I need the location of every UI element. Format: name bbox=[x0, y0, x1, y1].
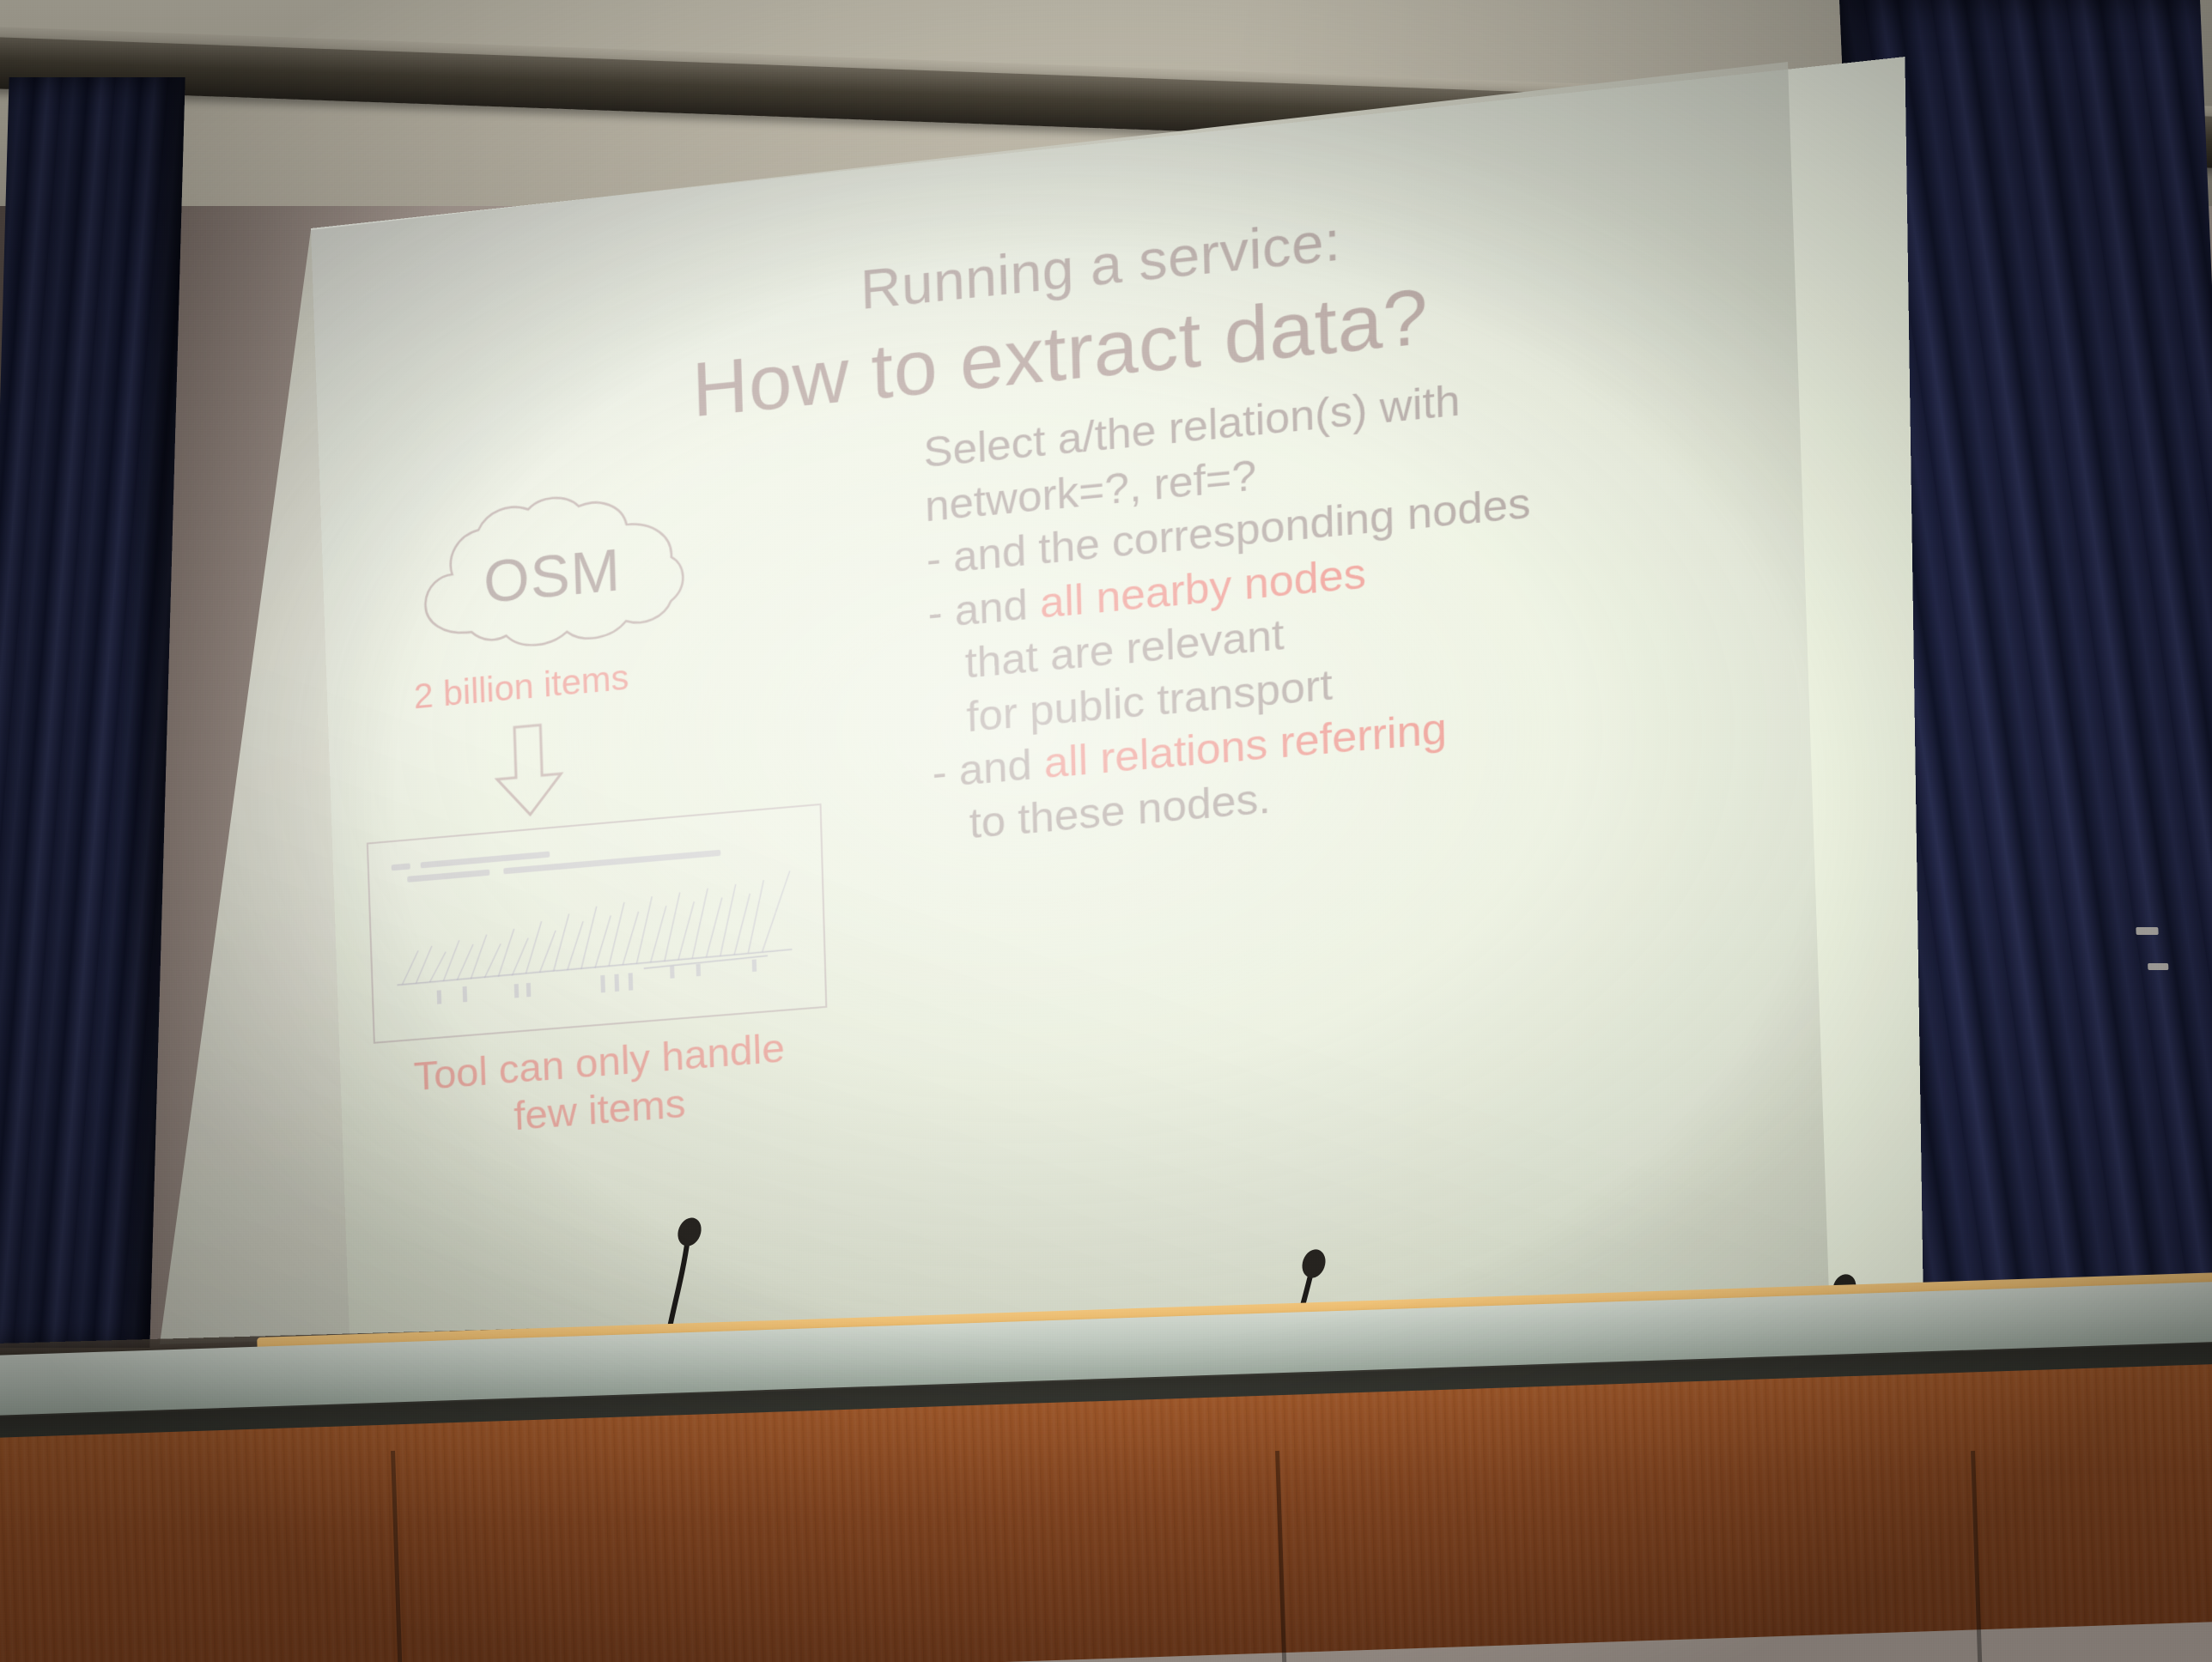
embedded-screenshot-frame bbox=[367, 804, 827, 1044]
bullet-list: Select a/the relation(s) withnetwork=?, … bbox=[923, 333, 1878, 853]
photo-canvas: Running a service: How to extract data? … bbox=[0, 0, 2212, 1662]
bullet-text: - and bbox=[927, 579, 1041, 638]
osm-cloud: OSM bbox=[407, 479, 699, 672]
down-arrow-icon bbox=[490, 719, 568, 822]
bullet-text: - and bbox=[932, 740, 1045, 798]
